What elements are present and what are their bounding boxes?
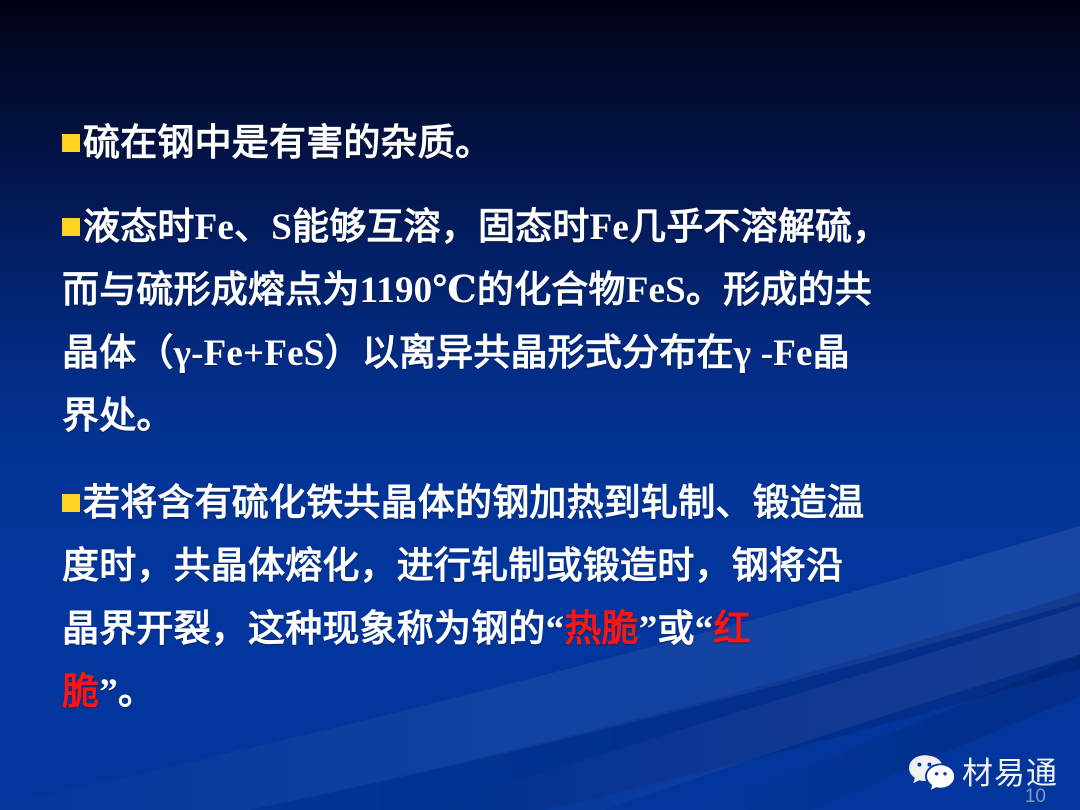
line-text-segment: ”或“ <box>639 609 714 650</box>
bullet-square-icon <box>62 134 80 152</box>
line-text-segment: ”。 <box>99 672 155 713</box>
text-line: 度时，共晶体熔化，进行轧制或锻造时，钢将沿 <box>62 535 1022 598</box>
slide-body: 硫在钢中是有害的杂质。 液态时Fe、S能够互溶，固态时Fe几乎不溶解硫， 而与硫… <box>0 0 1080 810</box>
watermark: 材易通 <box>908 754 1058 792</box>
bullet-paragraph-3: 若将含有硫化铁共晶体的钢加热到轧制、锻造温 度时，共晶体熔化，进行轧制或锻造时，… <box>62 472 1022 724</box>
text-line: 脆”。 <box>62 661 1022 724</box>
text-line: 液态时Fe、S能够互溶，固态时Fe几乎不溶解硫， <box>62 196 1022 259</box>
line-text: 液态时Fe、S能够互溶，固态时Fe几乎不溶解硫， <box>83 196 889 259</box>
text-line: 界处。 <box>62 385 1022 448</box>
wechat-icon <box>908 754 954 792</box>
slide-canvas: 硫在钢中是有害的杂质。 液态时Fe、S能够互溶，固态时Fe几乎不溶解硫， 而与硫… <box>0 0 1080 810</box>
text-line: 若将含有硫化铁共晶体的钢加热到轧制、锻造温 <box>62 472 1022 535</box>
bullet-paragraph-2: 液态时Fe、S能够互溶，固态时Fe几乎不溶解硫， 而与硫形成熔点为1190℃的化… <box>62 196 1022 448</box>
text-line: 晶界开裂，这种现象称为钢的“热脆”或“红 <box>62 598 1022 661</box>
bullet-square-icon <box>62 494 80 512</box>
text-line: 晶体（γ-Fe+FeS）以离异共晶形式分布在γ -Fe晶 <box>62 322 1022 385</box>
bullet-paragraph-1: 硫在钢中是有害的杂质。 <box>62 112 1022 175</box>
bullet-square-icon <box>62 218 80 236</box>
line-text: 若将含有硫化铁共晶体的钢加热到轧制、锻造温 <box>83 472 864 535</box>
text-line: 硫在钢中是有害的杂质。 <box>62 112 1022 175</box>
line-text: 硫在钢中是有害的杂质。 <box>83 112 492 175</box>
highlight-term-hong: 红 <box>713 609 750 650</box>
highlight-term-cui: 脆 <box>62 672 99 713</box>
line-text-segment: 晶界开裂，这种现象称为钢的“ <box>62 609 564 650</box>
brand-name: 材易通 <box>962 758 1058 789</box>
highlight-term-rec: 热脆 <box>564 609 638 650</box>
text-line: 而与硫形成熔点为1190℃的化合物FeS。形成的共 <box>62 259 1022 322</box>
